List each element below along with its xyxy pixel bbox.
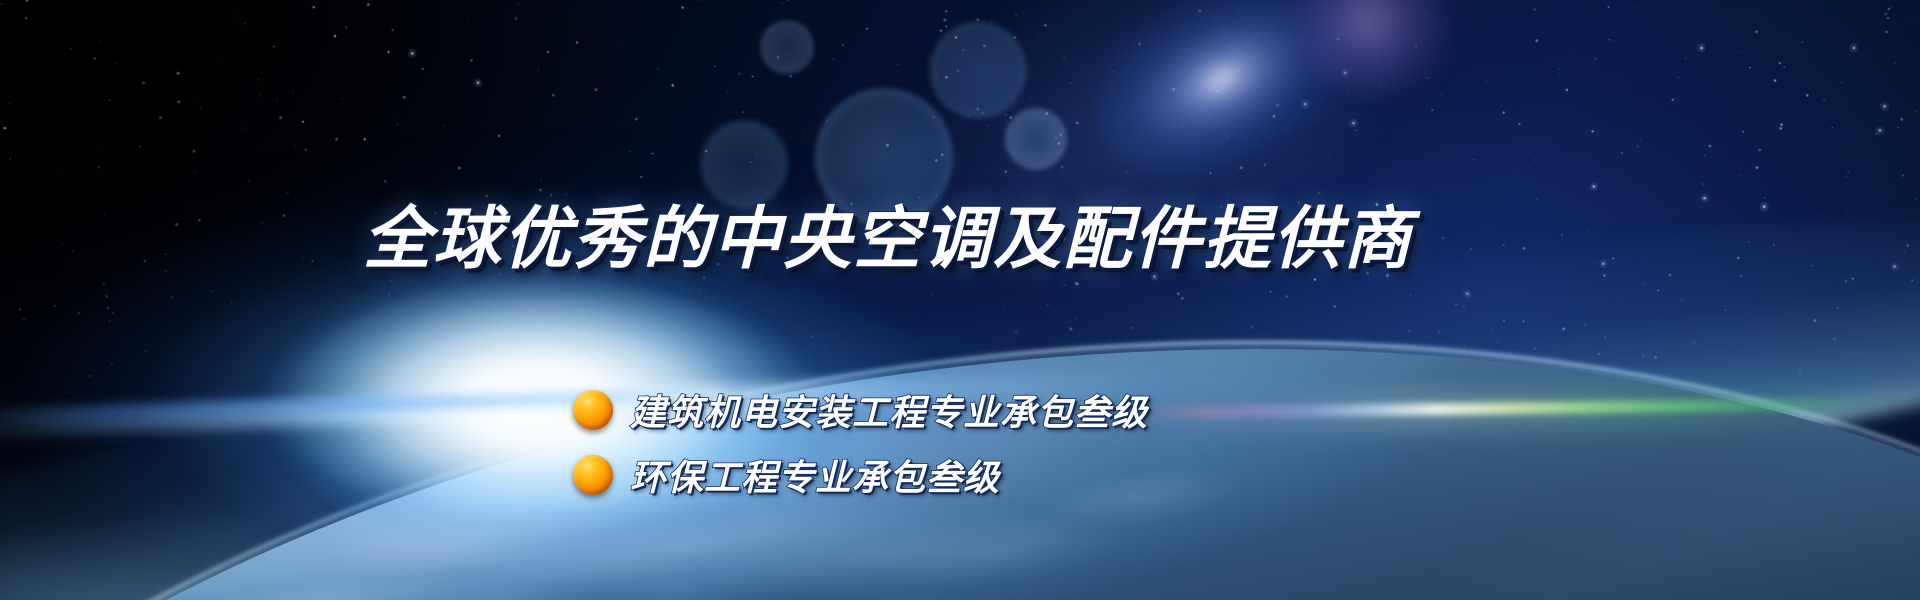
qualification-label: 建筑机电安装工程专业承包叁级 bbox=[630, 384, 1148, 436]
hero-banner: 全球优秀的中央空调及配件提供商 建筑机电安装工程专业承包叁级 环保工程专业承包叁… bbox=[0, 0, 1920, 600]
qualification-label: 环保工程专业承包叁级 bbox=[630, 449, 1000, 501]
banner-qualification-list: 建筑机电安装工程专业承包叁级 环保工程专业承包叁级 bbox=[573, 382, 1148, 512]
list-item: 建筑机电安装工程专业承包叁级 bbox=[573, 382, 1148, 438]
banner-content: 全球优秀的中央空调及配件提供商 建筑机电安装工程专业承包叁级 环保工程专业承包叁… bbox=[0, 0, 1920, 600]
bullet-sphere-icon bbox=[573, 455, 613, 495]
list-item: 环保工程专业承包叁级 bbox=[573, 447, 1148, 503]
banner-headline: 全球优秀的中央空调及配件提供商 bbox=[363, 203, 1413, 276]
bullet-sphere-icon bbox=[573, 390, 613, 430]
